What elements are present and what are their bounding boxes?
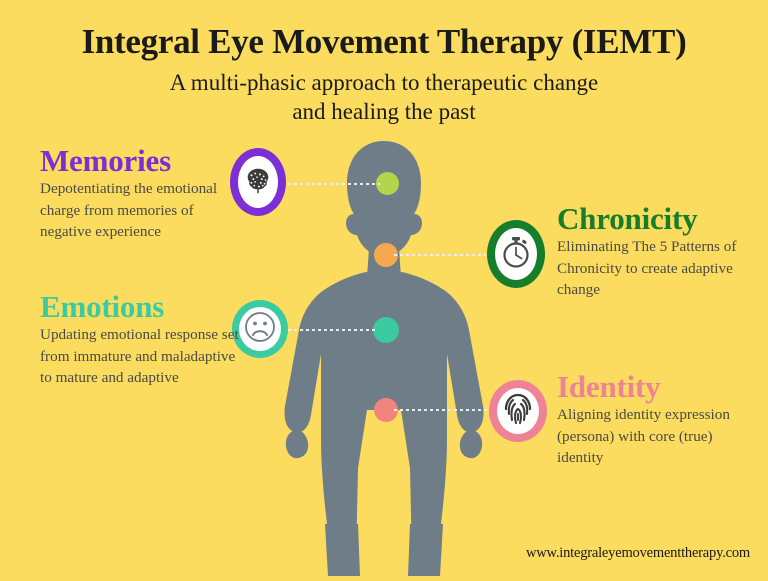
memories-body: Depotentiating the emotional charge from…: [40, 178, 240, 243]
header: Integral Eye Movement Therapy (IEMT) A m…: [0, 0, 768, 126]
identity-icon-badge[interactable]: [489, 380, 547, 442]
identity-body: Aligning identity expression (persona) w…: [557, 404, 753, 469]
page-title: Integral Eye Movement Therapy (IEMT): [0, 22, 768, 62]
fingerprint-icon: [503, 392, 533, 431]
connector-emotions: [288, 329, 378, 331]
chronicity-heading: Chronicity: [557, 202, 753, 235]
identity-heading: Identity: [557, 370, 753, 403]
connector-chronicity: [394, 254, 486, 256]
human-body-silhouette: [268, 138, 500, 576]
brain-icon: [243, 165, 273, 200]
section-emotions: Emotions Updating emotional response set…: [40, 290, 240, 389]
page-subtitle-line-1: A multi-phasic approach to therapeutic c…: [0, 68, 768, 97]
section-memories: Memories Depotentiating the emotional ch…: [40, 144, 240, 243]
section-identity: Identity Aligning identity expression (p…: [557, 370, 753, 469]
emotions-body: Updating emotional response set from imm…: [40, 324, 240, 389]
connector-memories: [288, 183, 380, 185]
chronicity-body: Eliminating The 5 Patterns of Chronicity…: [557, 236, 753, 301]
sad-face-icon: [243, 310, 277, 349]
page-subtitle-line-2: and healing the past: [0, 97, 768, 126]
memories-heading: Memories: [40, 144, 240, 177]
emotions-icon-badge[interactable]: [232, 300, 288, 358]
connector-identity: [394, 409, 488, 411]
infographic-canvas: Integral Eye Movement Therapy (IEMT) A m…: [0, 0, 768, 576]
website-url[interactable]: www.integraleyemovementtherapy.com: [526, 545, 750, 562]
section-chronicity: Chronicity Eliminating The 5 Patterns of…: [557, 202, 753, 301]
stopwatch-icon: [501, 236, 531, 273]
emotions-heading: Emotions: [40, 290, 240, 323]
chronicity-icon-badge[interactable]: [487, 220, 545, 288]
